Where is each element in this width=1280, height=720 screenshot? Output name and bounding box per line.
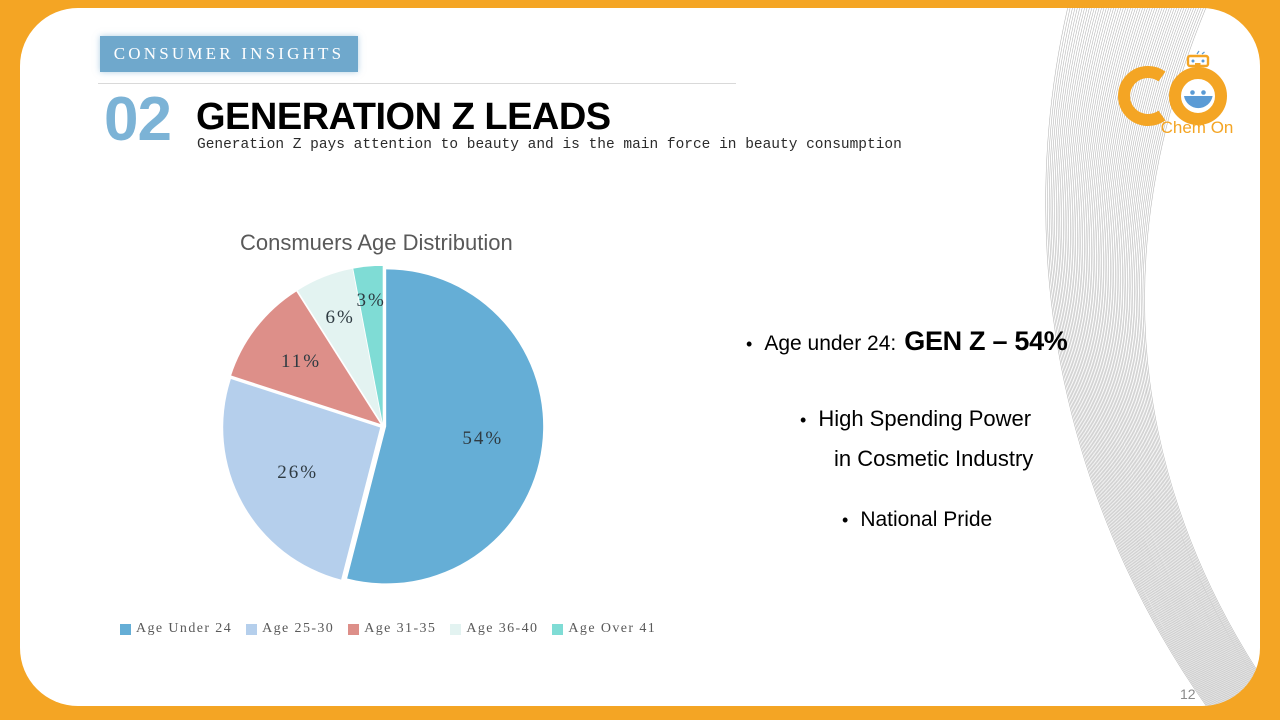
legend-swatch-icon <box>120 624 131 635</box>
insight-bullet-1: • Age under 24: GEN Z – 54% <box>746 326 1068 357</box>
pie-chart: 54%26%11%6%3% <box>218 266 548 586</box>
pie-slice-label: 11% <box>281 351 321 373</box>
legend-item: Age Under 24 <box>120 621 232 637</box>
legend-label: Age 31-35 <box>364 621 436 637</box>
legend-swatch-icon <box>348 624 359 635</box>
legend-label: Age 25-30 <box>262 621 334 637</box>
legend-label: Age Under 24 <box>136 621 232 637</box>
slide-canvas: CONSUMER INSIGHTS 02 GENERATION Z LEADS … <box>0 0 1280 720</box>
bullet-icon: • <box>842 511 848 529</box>
legend-label: Age 36-40 <box>466 621 538 637</box>
section-number: 02 <box>104 84 171 155</box>
pie-chart-svg <box>218 266 548 586</box>
insight-bullet-1-regular: Age under 24: <box>764 332 896 356</box>
insight-bullet-3-text: National Pride <box>860 508 992 532</box>
legend-swatch-icon <box>450 624 461 635</box>
legend-item: Age 31-35 <box>348 621 436 637</box>
insight-bullet-2-line2: in Cosmetic Industry <box>834 446 1033 472</box>
pie-slice-label: 54% <box>462 428 503 450</box>
chart-legend: Age Under 24Age 25-30Age 31-35Age 36-40A… <box>120 621 656 637</box>
chart-title: Consmuers Age Distribution <box>240 230 513 256</box>
insight-bullet-2-line1: High Spending Power <box>818 406 1031 432</box>
bullet-icon: • <box>746 335 752 353</box>
slide-card: CONSUMER INSIGHTS 02 GENERATION Z LEADS … <box>20 8 1260 706</box>
legend-item: Age 25-30 <box>246 621 334 637</box>
page-title: GENERATION Z LEADS <box>196 96 611 139</box>
insight-bullet-2: • High Spending Power <box>800 406 1031 432</box>
legend-swatch-icon <box>552 624 563 635</box>
section-badge: CONSUMER INSIGHTS <box>100 36 358 72</box>
pie-slice-label: 3% <box>357 290 386 312</box>
page-subtitle: Generation Z pays attention to beauty an… <box>197 137 902 153</box>
legend-label: Age Over 41 <box>568 621 656 637</box>
logo-wordmark: Chem On <box>1142 118 1252 138</box>
legend-swatch-icon <box>246 624 257 635</box>
legend-item: Age 36-40 <box>450 621 538 637</box>
insight-bullet-3: • National Pride <box>842 508 992 532</box>
insight-bullet-1-bold: GEN Z – 54% <box>904 326 1067 357</box>
pie-slice-label: 6% <box>326 307 355 329</box>
legend-item: Age Over 41 <box>552 621 656 637</box>
bullet-icon: • <box>800 411 806 429</box>
page-number: 12 <box>1180 686 1196 702</box>
header-divider <box>98 83 736 84</box>
pie-slice-label: 26% <box>277 462 318 484</box>
